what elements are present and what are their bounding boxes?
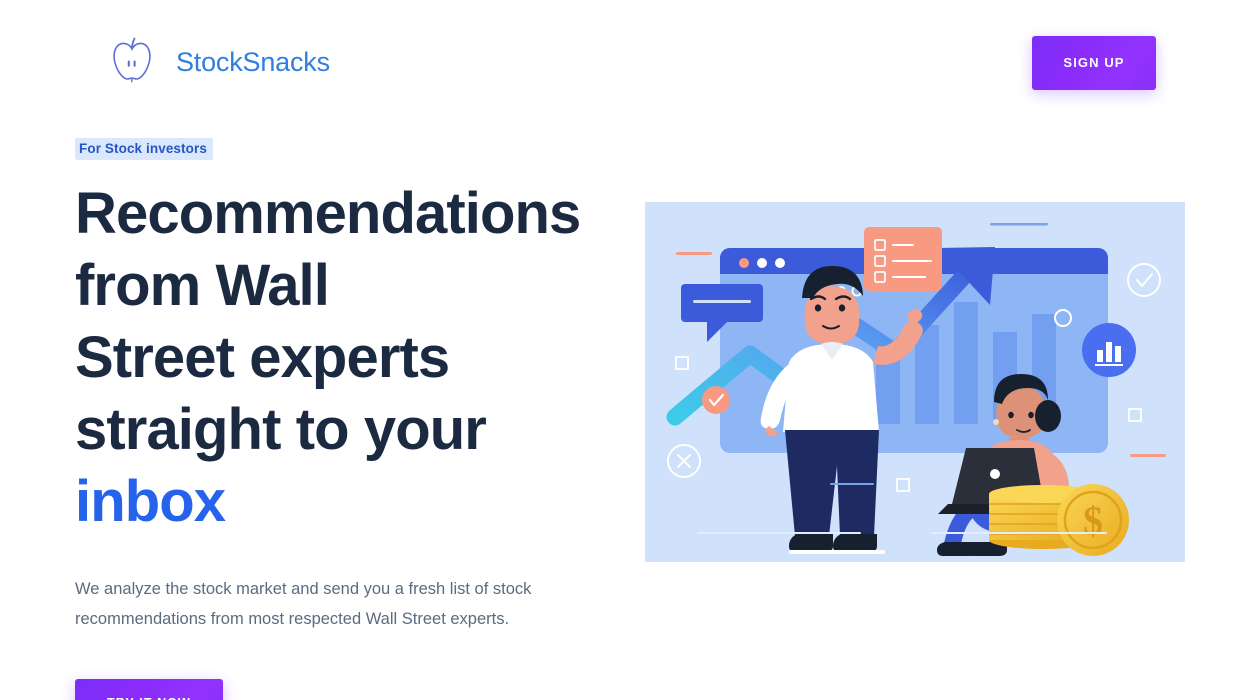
hero-content: For Stock investors Recommendations from… — [75, 138, 715, 700]
site-header: StockSnacks SIGN UP — [0, 0, 1260, 125]
hero-subtext: We analyze the stock market and send you… — [75, 574, 595, 634]
headline-line-2: from Wall — [75, 253, 329, 318]
window-dot-close — [739, 258, 749, 268]
hero-eyebrow-badge: For Stock investors — [75, 138, 213, 160]
dash-line-3 — [830, 483, 874, 485]
sign-up-button[interactable]: SIGN UP — [1032, 36, 1156, 90]
bar-chart-badge — [1082, 323, 1136, 377]
apple-outline-icon — [104, 32, 160, 94]
check-badge-icon — [702, 386, 730, 414]
coin-dollar-symbol: $ — [1083, 498, 1103, 543]
headline-line-1: Recommendations — [75, 181, 580, 246]
ground-line-1 — [697, 532, 861, 534]
dash-line-1 — [676, 252, 712, 255]
brand-logo[interactable]: StockSnacks — [104, 32, 330, 94]
brand-name: StockSnacks — [176, 49, 330, 76]
landing-page: StockSnacks SIGN UP For Stock investors … — [0, 0, 1260, 700]
window-dot-maximize — [775, 258, 785, 268]
ground-line-2 — [931, 532, 1107, 534]
headline-line-3: Street experts — [75, 325, 449, 390]
dash-line-4 — [990, 223, 1048, 226]
window-dot-minimize — [757, 258, 767, 268]
dash-line-2 — [1130, 454, 1166, 457]
try-it-now-button[interactable]: TRY IT NOW — [75, 679, 223, 700]
headline-line-4: straight to your — [75, 397, 486, 462]
hero-illustration: $ — [645, 202, 1185, 562]
page-title: Recommendations from Wall Street experts… — [75, 178, 715, 538]
headline-accent-word: inbox — [75, 469, 225, 534]
checklist-card — [864, 227, 942, 291]
